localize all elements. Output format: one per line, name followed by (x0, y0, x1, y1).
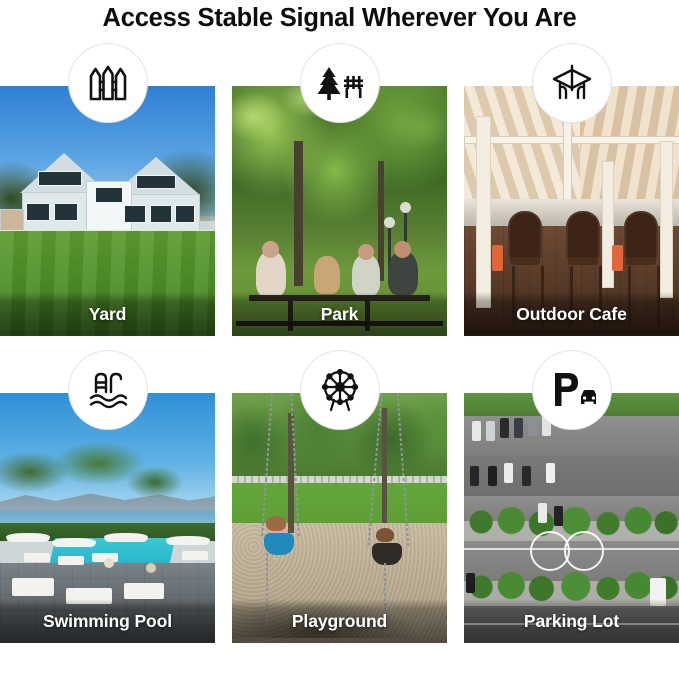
picnic-bench (236, 321, 442, 326)
shadow (232, 583, 447, 638)
fence-icon (68, 43, 148, 123)
parking-car-icon (532, 350, 612, 430)
swing-seat (264, 533, 294, 555)
outdoor-cafe-photo: Outdoor Cafe (464, 86, 679, 336)
grid-row: Yard (0, 43, 679, 350)
pool-ladder-icon (68, 350, 148, 430)
umbrella-pines (0, 438, 215, 523)
card-reflection (0, 643, 215, 657)
page-title: Access Stable Signal Wherever You Are (0, 0, 679, 40)
parking-lot-photo: Parking Lot (464, 393, 679, 643)
bar-stool (508, 211, 542, 326)
swimming-pool-photo: Swimming Pool (0, 393, 215, 643)
patio-umbrella-icon (532, 43, 612, 123)
grid-row: Swimming Pool (0, 350, 679, 657)
feature-card-park[interactable]: Park (232, 43, 447, 350)
bar-stool (624, 211, 658, 326)
painted-circle (564, 531, 604, 571)
tree-bench-icon (300, 43, 380, 123)
yard-photo: Yard (0, 86, 215, 336)
feature-card-outdoor-cafe[interactable]: Outdoor Cafe (464, 43, 679, 350)
picnic-table (249, 295, 430, 301)
park-photo: Park (232, 86, 447, 336)
swing-seat (372, 543, 402, 565)
card-reflection (464, 336, 679, 350)
playground-photo: Playground (232, 393, 447, 643)
ferris-wheel-icon (300, 350, 380, 430)
card-reflection (232, 643, 447, 657)
feature-card-yard[interactable]: Yard (0, 43, 215, 350)
card-reflection (0, 336, 215, 350)
card-reflection (232, 336, 447, 350)
house (0, 151, 215, 239)
bar-stool (566, 211, 600, 326)
lawn (0, 231, 215, 336)
card-reflection (464, 643, 679, 657)
feature-card-playground[interactable]: Playground (232, 350, 447, 657)
feature-grid: Yard (0, 40, 679, 673)
feature-card-parking-lot[interactable]: Parking Lot (464, 350, 679, 657)
feature-card-swimming-pool[interactable]: Swimming Pool (0, 350, 215, 657)
